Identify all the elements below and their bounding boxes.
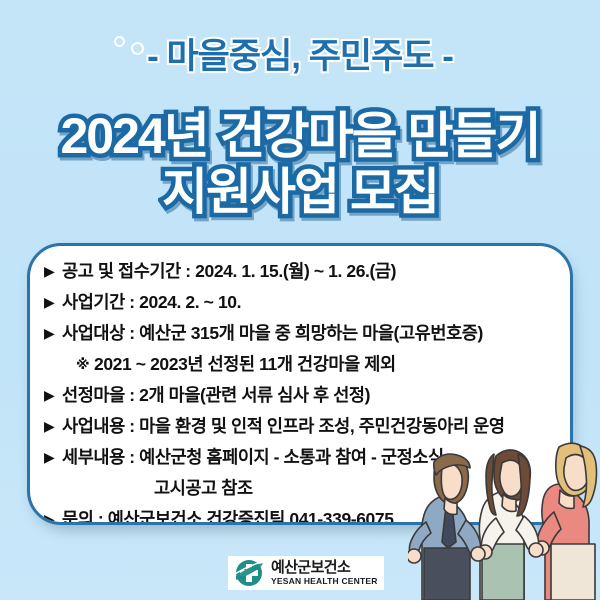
health-cross-emblem-icon [234,558,264,588]
info-line: ※2021 ~ 2023년 선정된 11개 건강마을 제외 [44,349,562,380]
triangle-bullet-icon: ▶ [44,287,62,318]
info-line-text: 공고 및 접수기간 : 2024. 1. 15.(월) ~ 1. 26.(금) [62,256,396,287]
three-people-cheering-illustration [408,432,600,600]
triangle-bullet-icon: ▶ [44,411,62,442]
triangle-bullet-icon: ▶ [44,256,62,287]
logo-name-english: YESAN HEALTH CENTER [271,577,378,586]
logo-text: 예산군보건소 YESAN HEALTH CENTER [271,560,378,586]
info-line: ▶사업기간 : 2024. 2. ~ 10. [44,287,562,318]
info-line-text: 선정마을 : 2개 마을(관련 서류 심사 후 선정) [62,380,370,411]
triangle-bullet-icon: ▶ [44,318,62,349]
triangle-bullet-icon: ▶ [44,380,62,411]
info-line: ▶공고 및 접수기간 : 2024. 1. 15.(월) ~ 1. 26.(금) [44,256,562,287]
info-line-text: 세부내용 : 예산군청 홈페이지 - 소통과 참여 - 군정소식 - [62,442,454,473]
info-line: ▶사업대상 : 예산군 315개 마을 중 희망하는 마을(고유번호증) [44,318,562,349]
poster-subtitle: - 마을중심, 주민주도 - [0,28,600,79]
note-marker-icon: ※ [76,349,94,380]
info-line-text: 2021 ~ 2023년 선정된 11개 건강마을 제외 [94,349,396,380]
poster-canvas: - 마을중심, 주민주도 - 2024년 건강마을 만들기 지원사업 모집 ▶공… [0,0,600,600]
logo-name-korean: 예산군보건소 [271,560,378,575]
info-line-text: 고시공고 참조 [154,473,253,504]
poster-title-line-2: 지원사업 모집 [0,152,600,224]
info-line: ▶선정마을 : 2개 마을(관련 서류 심사 후 선정) [44,380,562,411]
info-line-text: 사업기간 : 2024. 2. ~ 10. [62,287,241,318]
triangle-bullet-icon: ▶ [44,442,62,473]
triangle-bullet-icon: ▶ [44,504,62,525]
info-line-text: 사업대상 : 예산군 315개 마을 중 희망하는 마을(고유번호증) [62,318,483,349]
yesan-health-center-logo: 예산군보건소 YESAN HEALTH CENTER [228,556,384,590]
info-line-text: 문의 : 예산군보건소 건강증진팀 041-339-6075 [62,504,394,525]
